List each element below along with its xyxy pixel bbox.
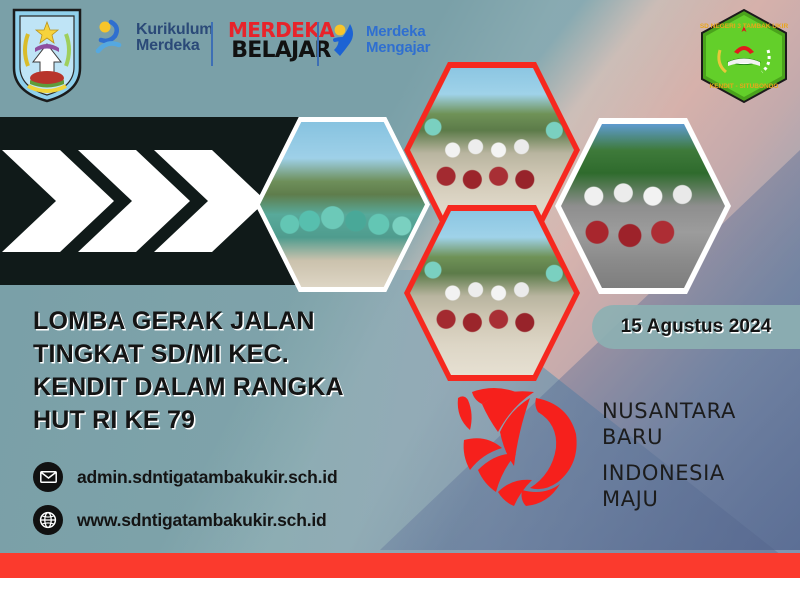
contact-list: admin.sdntigatambakukir.sch.id www.sdnti… [33, 462, 337, 548]
logo-divider [211, 22, 213, 66]
east-java-emblem-icon [8, 4, 86, 104]
photo-teachers-group [260, 122, 425, 287]
logo-kurikulum-merdeka: Kurikulum Merdeka [95, 18, 213, 58]
tagline-line-3: INDONESIA [602, 460, 736, 486]
title-line-1: LOMBA GERAK JALAN [33, 305, 393, 338]
poster-canvas: Kurikulum Merdeka MERDEKA BELAJAR Merdek… [0, 0, 800, 600]
bottom-red-bar [0, 553, 800, 578]
contact-email: admin.sdntigatambakukir.sch.id [33, 462, 337, 492]
page-title: LOMBA GERAK JALAN TINGKAT SD/MI KEC. KEN… [33, 305, 393, 437]
merdeka-mengajar-label: Merdeka Mengajar [366, 24, 430, 55]
school-logo-icon: SD NEGERI 3 TAMBAK UKIR KENDIT - SITUBON… [698, 8, 790, 104]
hut-ri-79-logo-icon [452, 378, 588, 510]
title-line-2: TINGKAT SD/MI KEC. [33, 338, 393, 371]
title-line-3: KENDIT DALAM RANGKA [33, 371, 393, 404]
mm-line-2: Mengajar [366, 40, 430, 56]
date-badge: 15 Agustus 2024 [592, 305, 800, 349]
logo-divider [317, 22, 319, 66]
svg-text:SD NEGERI 3 TAMBAK UKIR: SD NEGERI 3 TAMBAK UKIR [700, 23, 789, 30]
photo-parade-march [561, 124, 725, 288]
photo-students-group-bottom [410, 211, 574, 375]
envelope-icon [33, 462, 63, 492]
tagline-line-4: MAJU [602, 486, 736, 512]
date-badge-label: 15 Agustus 2024 [621, 316, 772, 338]
header-logo-bar: Kurikulum Merdeka MERDEKA BELAJAR Merdek… [0, 0, 800, 115]
tagline-line-1: NUSANTARA [602, 398, 736, 424]
logo-merdeka-mengajar: Merdeka Mengajar [330, 20, 430, 60]
contact-website: www.sdntigatambakukir.sch.id [33, 505, 337, 535]
svg-text:KENDIT - SITUBONDO: KENDIT - SITUBONDO [710, 83, 779, 90]
title-line-4: HUT RI KE 79 [33, 404, 393, 437]
bottom-white-bar [0, 578, 800, 600]
photo-hex-parade [555, 118, 731, 294]
contact-email-text: admin.sdntigatambakukir.sch.id [77, 467, 337, 488]
kurikulum-merdeka-mark-icon [95, 18, 129, 58]
contact-website-text: www.sdntigatambakukir.sch.id [77, 510, 327, 531]
tagline-line-2: BARU [602, 424, 736, 450]
hut-tagline: NUSANTARA BARU INDONESIA MAJU [602, 398, 736, 513]
kurikulum-merdeka-label: Kurikulum Merdeka [136, 22, 213, 55]
merdeka-mengajar-mark-icon [330, 20, 360, 60]
km-line-1: Kurikulum [136, 22, 213, 38]
km-line-2: Merdeka [136, 38, 213, 54]
photo-hex-students-bottom [404, 205, 580, 381]
mm-line-1: Merdeka [366, 24, 430, 40]
globe-icon [33, 505, 63, 535]
